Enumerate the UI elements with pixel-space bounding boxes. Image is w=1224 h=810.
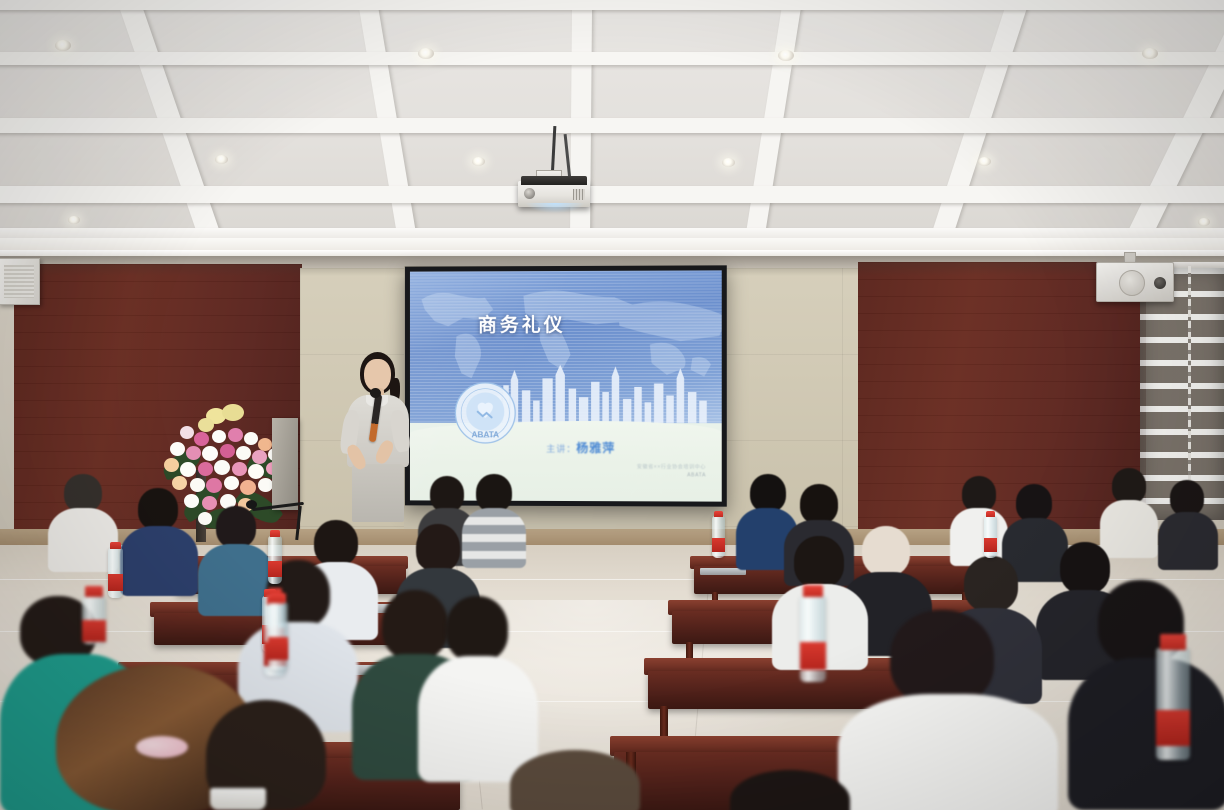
bottle-cap xyxy=(110,542,121,549)
water-bottle[interactable] xyxy=(82,596,106,644)
downlight-icon xyxy=(1142,48,1158,59)
audience-member xyxy=(490,750,670,810)
torso xyxy=(120,526,198,596)
torso xyxy=(1068,658,1224,810)
water-bottle[interactable] xyxy=(268,536,282,584)
projector-glow xyxy=(526,203,584,213)
slide-footer: 安徽省××行业协会培训中心 ABATA xyxy=(637,463,706,478)
torso xyxy=(1158,512,1218,570)
speaker-tweeter-icon xyxy=(1154,277,1166,289)
ceiling-projector xyxy=(518,181,590,207)
presenter-label: 主讲： xyxy=(546,444,576,454)
water-bottle[interactable] xyxy=(1156,648,1190,760)
bottle-label xyxy=(712,538,725,552)
head xyxy=(1112,468,1146,504)
head xyxy=(794,536,844,588)
bottle-cap xyxy=(714,511,724,517)
ceiling-beam xyxy=(0,118,1224,133)
downlight-icon xyxy=(778,50,794,61)
head xyxy=(750,474,786,512)
ceiling-beam xyxy=(0,52,1224,65)
downlight-icon xyxy=(215,155,228,164)
water-bottle[interactable] xyxy=(712,516,725,558)
bottle-label xyxy=(268,561,282,577)
head xyxy=(890,610,994,706)
audience-member xyxy=(838,610,1058,810)
water-bottle[interactable] xyxy=(108,548,123,598)
abata-logo-icon: ABATA xyxy=(453,381,517,445)
slide-title: 商务礼仪 xyxy=(478,310,566,337)
slide-footer-brand: ABATA xyxy=(637,472,706,478)
head xyxy=(216,506,256,548)
downlight-icon xyxy=(472,157,485,166)
head xyxy=(446,596,508,662)
bottle-label xyxy=(268,637,288,660)
bottle-cap xyxy=(1160,634,1186,650)
ceiling-beam xyxy=(0,0,1224,10)
audience-member xyxy=(120,488,198,588)
audience-member xyxy=(1158,480,1218,566)
head xyxy=(1170,480,1204,516)
downlight-icon xyxy=(55,40,71,51)
projector-lens-icon xyxy=(524,188,535,199)
ceiling xyxy=(0,0,1224,258)
projector-top xyxy=(521,176,587,185)
head xyxy=(510,750,640,810)
audience-member xyxy=(720,770,870,810)
head xyxy=(1016,484,1052,522)
torso xyxy=(838,694,1058,810)
water-bottle[interactable] xyxy=(800,596,826,682)
head xyxy=(138,488,178,530)
projection-screen: 商务礼仪 xyxy=(405,265,727,506)
head xyxy=(800,484,838,524)
hair-clip xyxy=(136,736,188,758)
conference-room-photo: 商务礼仪 xyxy=(0,0,1224,810)
speaker-cone-icon xyxy=(1119,270,1145,296)
city-skyline-graphic xyxy=(490,363,715,423)
wall-speaker-left xyxy=(0,258,40,305)
slide-footer-line1: 安徽省××行业协会培训中心 xyxy=(637,463,706,470)
bottle-label xyxy=(984,538,997,552)
downlight-icon xyxy=(978,157,991,166)
head xyxy=(476,474,512,512)
head xyxy=(416,524,460,572)
wall-speaker-right xyxy=(1096,262,1174,302)
lectern xyxy=(272,418,298,510)
bottle-label xyxy=(82,620,106,642)
head xyxy=(964,556,1018,612)
bottle-label xyxy=(1156,710,1190,746)
downlight-icon xyxy=(1198,218,1210,226)
svg-text:ABATA: ABATA xyxy=(471,430,499,440)
audience-member xyxy=(1068,580,1224,810)
presenter-name: 杨雅萍 xyxy=(576,441,615,455)
ceiling-beam xyxy=(0,186,1224,203)
bottle-cap xyxy=(270,593,285,603)
downlight-icon xyxy=(722,158,735,167)
bottle-label xyxy=(108,574,123,591)
audience-member xyxy=(950,476,1008,560)
audience-member xyxy=(1100,468,1158,552)
head xyxy=(862,526,910,576)
head xyxy=(730,770,850,810)
presenter-skirt xyxy=(352,464,404,522)
water-bottle[interactable] xyxy=(984,516,997,558)
bottle-cap xyxy=(986,511,996,517)
water-bottle[interactable] xyxy=(268,602,288,670)
slide: 商务礼仪 xyxy=(410,270,722,501)
presenter xyxy=(336,352,420,522)
head xyxy=(962,476,996,512)
paper-cup[interactable] xyxy=(210,788,266,810)
audience-member xyxy=(418,596,538,776)
bottle-cap xyxy=(270,530,281,537)
slide-presenter-line: 主讲：杨雅萍 xyxy=(546,439,615,456)
bottle-cap xyxy=(803,585,823,597)
bottle-label xyxy=(800,642,826,670)
downlight-icon xyxy=(418,48,434,59)
downlight-icon xyxy=(68,216,80,224)
head xyxy=(64,474,102,512)
bottle-cap xyxy=(85,586,103,597)
projector-vent-icon xyxy=(573,189,585,200)
head xyxy=(430,476,464,512)
